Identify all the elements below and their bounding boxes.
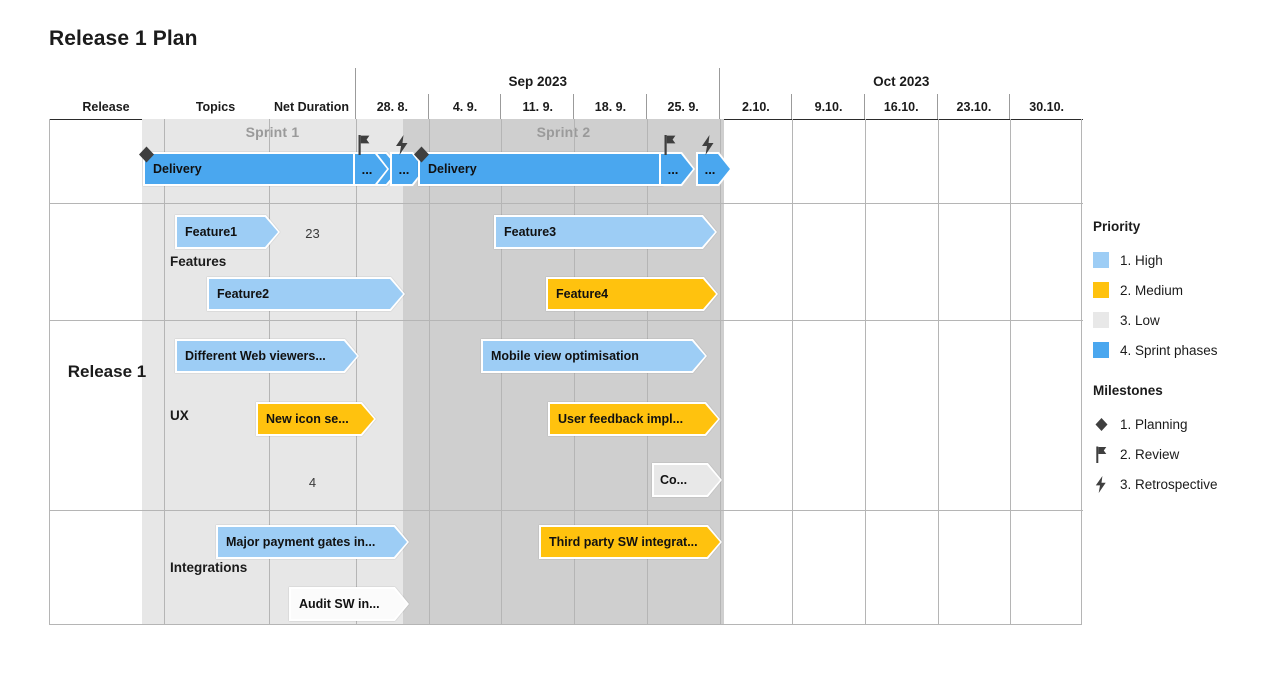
date-header-5: 2.10. — [719, 94, 793, 120]
milestone-flag-icon-sprint2 — [663, 135, 677, 155]
task-bar-label: Feature4 — [546, 287, 608, 301]
grid-vline-8 — [938, 119, 939, 624]
legend-milestones-title: Milestones — [1093, 383, 1273, 398]
task-bar-label: Different Web viewers... — [175, 349, 326, 363]
column-header-duration: Net Duration — [268, 94, 355, 120]
task-bar-ux-user-feedback[interactable]: User feedback impl... — [548, 402, 720, 436]
legend: Priority 1. High 2. Medium 3. Low 4. Spr… — [1093, 219, 1273, 499]
column-header-topics: Topics — [163, 94, 268, 120]
task-bar-label: ... — [696, 152, 732, 186]
swatch-high-icon — [1093, 252, 1109, 268]
task-bar-feature1[interactable]: Feature1 — [175, 215, 280, 249]
task-bar-ux-web-viewers[interactable]: Different Web viewers... — [175, 339, 359, 373]
month-header-sep: Sep 2023 — [355, 68, 720, 94]
task-bar-feature4[interactable]: Feature4 — [546, 277, 718, 311]
flag-icon — [1093, 446, 1109, 462]
date-header-2: 11. 9. — [500, 94, 574, 120]
legend-item-sprint-phases: 4. Sprint phases — [1093, 335, 1273, 365]
task-bar-ux-co[interactable]: Co... — [652, 463, 722, 497]
milestone-flag-icon-sprint1 — [357, 135, 371, 155]
legend-label: 1. High — [1120, 253, 1163, 268]
milestone-diamond-icon-sprint2 — [412, 145, 431, 164]
gantt-chart-canvas: Release 1 Plan Sep 2023 Oct 2023 Release… — [0, 0, 1281, 673]
task-bar-label: Third party SW integrat... — [539, 535, 698, 549]
task-bar-label: Major payment gates in... — [216, 535, 375, 549]
legend-priority-title: Priority — [1093, 219, 1273, 234]
task-bar-ux-new-icon-set[interactable]: New icon se... — [256, 402, 376, 436]
legend-item-retrospective: 3. Retrospective — [1093, 469, 1273, 499]
task-bar-ux-mobile-view[interactable]: Mobile view optimisation — [481, 339, 707, 373]
date-header-0: 28. 8. — [355, 94, 429, 120]
legend-label: 3. Retrospective — [1120, 477, 1218, 492]
date-header-4: 25. 9. — [646, 94, 720, 120]
task-bar-label: Mobile view optimisation — [481, 349, 639, 363]
task-bar-label: Audit SW in... — [289, 597, 380, 611]
swatch-sprint-phases-icon — [1093, 342, 1109, 358]
legend-label: 2. Review — [1120, 447, 1179, 462]
legend-item-high: 1. High — [1093, 245, 1273, 275]
legend-label: 4. Sprint phases — [1120, 343, 1218, 358]
task-bar-label: User feedback impl... — [548, 412, 683, 426]
legend-label: 1. Planning — [1120, 417, 1188, 432]
legend-item-low: 3. Low — [1093, 305, 1273, 335]
task-bar-label: ... — [353, 152, 389, 186]
task-bar-sprint2-review[interactable]: ... — [659, 152, 695, 186]
swatch-medium-icon — [1093, 282, 1109, 298]
gantt-table: Sep 2023 Oct 2023 Release Topics Net Dur… — [49, 68, 1082, 625]
task-bar-sprint1-review[interactable]: ... — [353, 152, 389, 186]
task-bar-feature2[interactable]: Feature2 — [207, 277, 405, 311]
date-header-8: 23.10. — [937, 94, 1011, 120]
task-bar-label: Feature3 — [494, 225, 556, 239]
milestone-lightning-icon-sprint1 — [394, 135, 410, 155]
task-bar-label: ... — [659, 152, 695, 186]
task-bar-label: Delivery — [418, 162, 477, 176]
date-header-9: 30.10. — [1009, 94, 1083, 120]
date-header-3: 18. 9. — [573, 94, 647, 120]
task-bar-audit-sw[interactable]: Audit SW in... — [289, 587, 409, 621]
task-bar-sprint2-retrospective[interactable]: ... — [696, 152, 732, 186]
duration-features-1: 23 — [269, 213, 356, 253]
task-bar-third-party-sw[interactable]: Third party SW integrat... — [539, 525, 722, 559]
grid-vline-9 — [1010, 119, 1011, 624]
grid-vline-1 — [429, 119, 430, 624]
diamond-icon — [1093, 416, 1109, 432]
task-bar-label: New icon se... — [256, 412, 349, 426]
milestone-lightning-icon-sprint2 — [700, 135, 716, 155]
legend-label: 3. Low — [1120, 313, 1160, 328]
date-header-6: 9.10. — [791, 94, 865, 120]
lightning-icon — [1093, 476, 1109, 492]
release-cell: Release 1 — [50, 119, 164, 625]
task-bar-label: Delivery — [143, 162, 202, 176]
legend-item-medium: 2. Medium — [1093, 275, 1273, 305]
gantt-body: Sprint 1 Sprint 2 Release 1 S — [49, 119, 1082, 625]
swatch-low-icon — [1093, 312, 1109, 328]
legend-item-review: 2. Review — [1093, 439, 1273, 469]
grid-vline-6 — [792, 119, 793, 624]
date-header-1: 4. 9. — [428, 94, 502, 120]
legend-label: 2. Medium — [1120, 283, 1183, 298]
task-bar-label: Feature2 — [207, 287, 269, 301]
milestone-diamond-icon-sprint1 — [137, 145, 156, 164]
task-bar-major-payment-gates[interactable]: Major payment gates in... — [216, 525, 409, 559]
grid-vline-7 — [865, 119, 866, 624]
legend-item-planning: 1. Planning — [1093, 409, 1273, 439]
task-bar-label: Co... — [652, 473, 687, 487]
legend-milestones-block: Milestones 1. Planning 2. Review 3. Retr… — [1093, 383, 1273, 499]
task-bar-label: Feature1 — [175, 225, 237, 239]
page-title: Release 1 Plan — [49, 27, 198, 51]
date-header-7: 16.10. — [864, 94, 938, 120]
column-header-release: Release — [49, 94, 163, 120]
duration-ux-3: 4 — [269, 462, 356, 502]
task-bar-sprint2-delivery[interactable]: Delivery — [418, 152, 677, 186]
task-bar-feature3[interactable]: Feature3 — [494, 215, 717, 249]
month-header-oct: Oct 2023 — [719, 68, 1084, 94]
